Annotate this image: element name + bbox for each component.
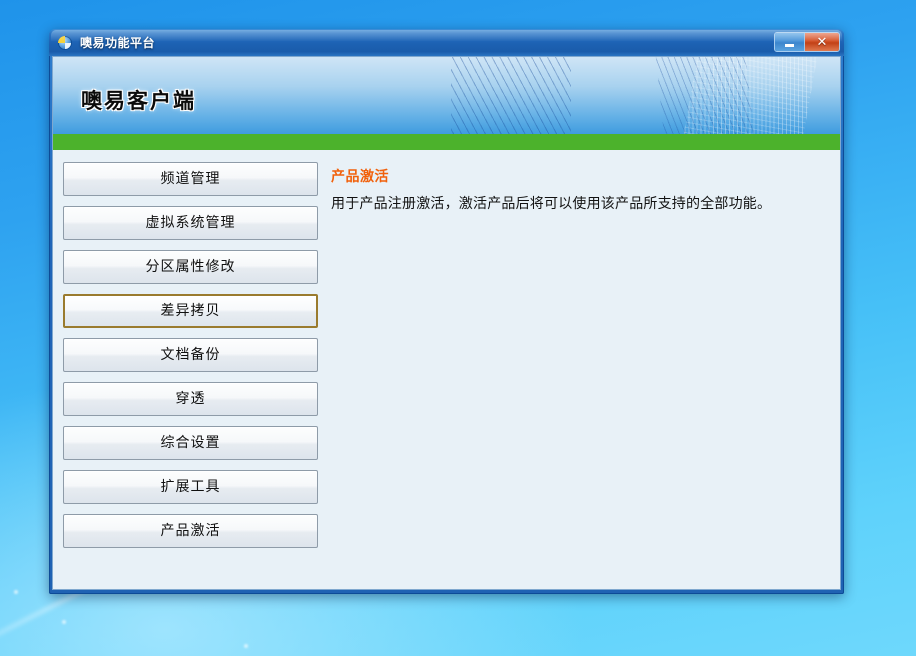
globe-icon xyxy=(57,35,73,51)
nav-product-activation[interactable]: 产品激活 xyxy=(63,514,318,548)
info-panel-title: 产品激活 xyxy=(331,166,826,186)
window-controls: ✕ xyxy=(774,32,840,52)
banner-fan-lines xyxy=(451,57,571,134)
navigation-button-list: 频道管理 虚拟系统管理 分区属性修改 差异拷贝 文档备份 穿透 综合设置 扩展工… xyxy=(63,162,318,558)
desktop-background: 噢易功能平台 ✕ 噢易客户端 xyxy=(0,0,916,656)
green-separator-bar xyxy=(53,134,840,150)
client-area: 噢易客户端 频道管理 虚拟系统管理 分区属性修改 差异拷贝 文档备份 穿透 综合… xyxy=(52,56,841,590)
content-area: 频道管理 虚拟系统管理 分区属性修改 差异拷贝 文档备份 穿透 综合设置 扩展工… xyxy=(53,150,840,590)
wallpaper-speck xyxy=(244,644,248,648)
banner-mesh-light xyxy=(680,57,819,134)
header-banner: 噢易客户端 xyxy=(53,57,840,134)
banner-title: 噢易客户端 xyxy=(81,85,196,115)
info-panel-description: 用于产品注册激活，激活产品后将可以使用该产品所支持的全部功能。 xyxy=(331,194,826,214)
nav-extension-tools[interactable]: 扩展工具 xyxy=(63,470,318,504)
application-window: 噢易功能平台 ✕ 噢易客户端 xyxy=(49,29,844,594)
window-title: 噢易功能平台 xyxy=(80,34,155,51)
wallpaper-speck xyxy=(62,620,66,624)
close-icon: ✕ xyxy=(817,35,828,50)
close-button[interactable]: ✕ xyxy=(805,33,839,51)
nav-general-settings[interactable]: 综合设置 xyxy=(63,426,318,460)
nav-document-backup[interactable]: 文档备份 xyxy=(63,338,318,372)
wallpaper-speck xyxy=(14,590,18,594)
nav-differential-copy[interactable]: 差异拷贝 xyxy=(63,294,318,328)
nav-passthrough[interactable]: 穿透 xyxy=(63,382,318,416)
nav-partition-property-edit[interactable]: 分区属性修改 xyxy=(63,250,318,284)
info-panel: 产品激活 用于产品注册激活，激活产品后将可以使用该产品所支持的全部功能。 xyxy=(331,162,826,214)
nav-virtual-system-management[interactable]: 虚拟系统管理 xyxy=(63,206,318,240)
minimize-button[interactable] xyxy=(775,33,805,51)
title-bar[interactable]: 噢易功能平台 ✕ xyxy=(49,29,844,56)
nav-channel-management[interactable]: 频道管理 xyxy=(63,162,318,196)
minimize-icon xyxy=(785,44,794,47)
